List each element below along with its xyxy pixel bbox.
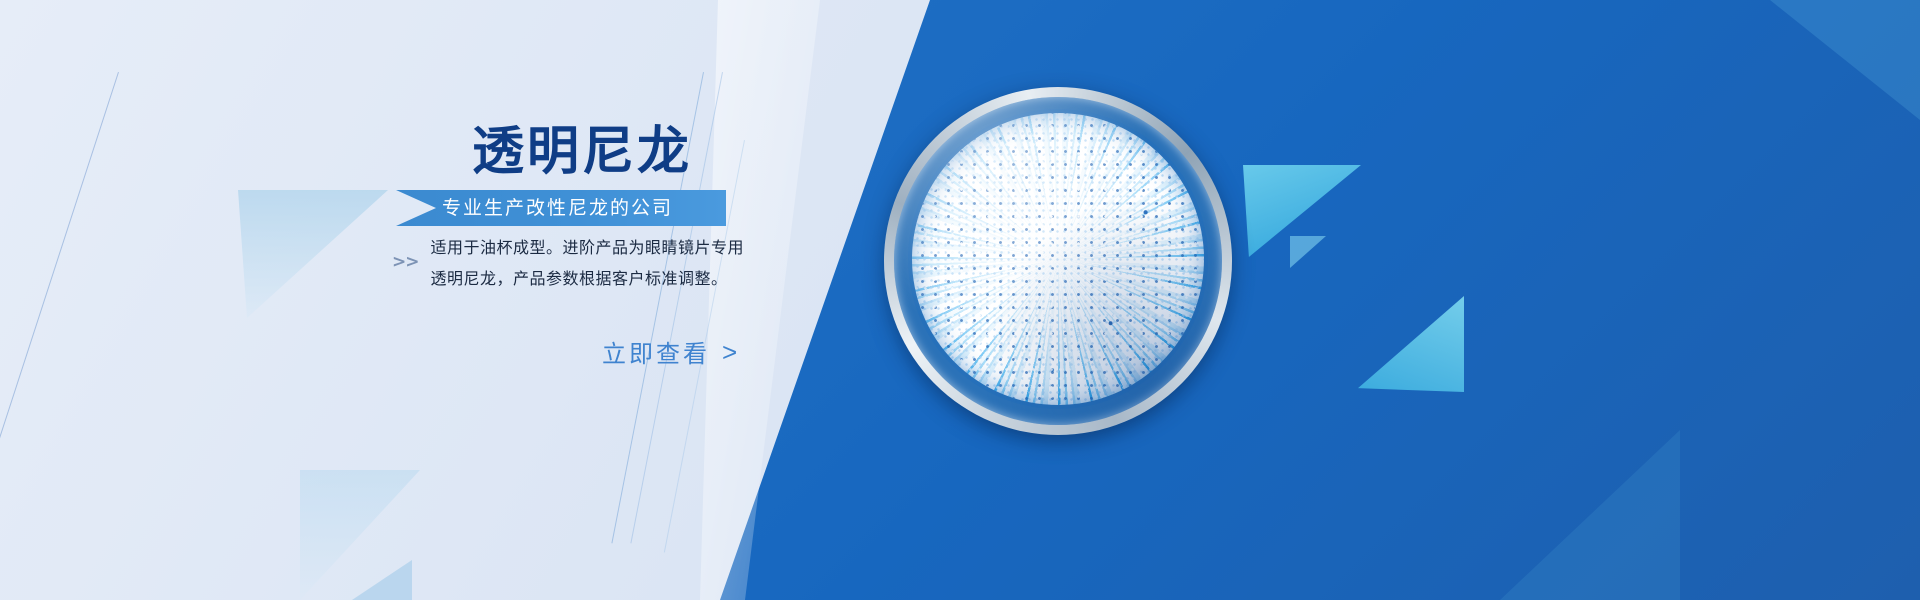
- product-hero-banner: 透明尼龙 专业生产改性尼龙的公司 >> 适用于油杯成型。进阶产品为眼睛镜片专用 …: [0, 0, 1920, 600]
- dish-rim: [884, 87, 1232, 435]
- tagline-label: 专业生产改性尼龙的公司: [442, 190, 673, 226]
- chevron-double-right-icon: >>: [392, 254, 419, 292]
- description-block: >> 适用于油杯成型。进阶产品为眼睛镜片专用 透明尼龙，产品参数根据客户标准调整…: [392, 232, 792, 292]
- view-now-button[interactable]: 立即查看 >: [602, 334, 737, 369]
- tagline-banner: 专业生产改性尼龙的公司: [396, 190, 726, 226]
- page-title: 透明尼龙: [472, 126, 692, 178]
- arrow-right-icon: >: [722, 339, 737, 365]
- description-lines: 适用于油杯成型。进阶产品为眼睛镜片专用 透明尼龙，产品参数根据客户标准调整。: [431, 232, 745, 292]
- dish-rim-inner: [894, 97, 1222, 425]
- description-line: 透明尼龙，产品参数根据客户标准调整。: [431, 267, 745, 292]
- description-line: 适用于油杯成型。进阶产品为眼睛镜片专用: [431, 236, 745, 261]
- product-image-petri-dish: [884, 87, 1232, 435]
- nylon-pellets-fill: [912, 113, 1204, 405]
- hero-content: 透明尼龙 专业生产改性尼龙的公司 >> 适用于油杯成型。进阶产品为眼睛镜片专用 …: [0, 0, 900, 600]
- view-now-label: 立即查看: [602, 334, 710, 369]
- pellet-speckle-texture: [912, 113, 1204, 405]
